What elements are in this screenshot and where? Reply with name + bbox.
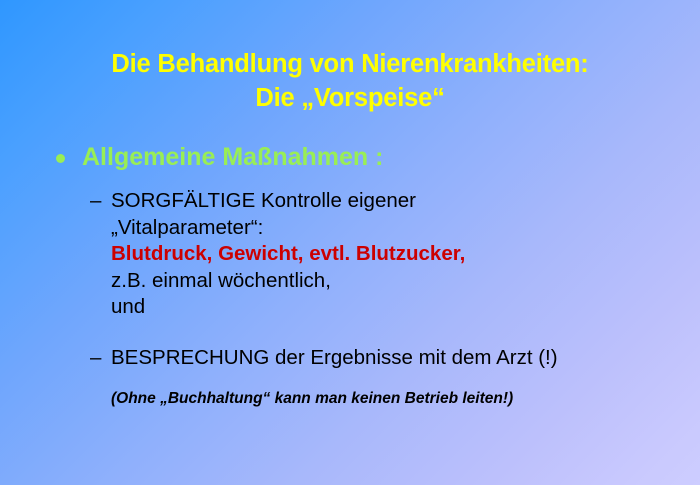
slide-footnote: (Ohne „Buchhaltung“ kann man keinen Betr…	[111, 389, 513, 409]
dash-marker-icon: –	[90, 345, 111, 372]
dash-marker-icon: –	[90, 188, 111, 215]
sub-bullet-line-1: SORGFÄLTIGE Kontrolle eigener	[111, 188, 465, 215]
sub-bullet-line-2: „Vitalparameter“:	[111, 215, 465, 242]
sub-bullet-item-besprechung: – BESPRECHUNG der Ergebnisse mit dem Arz…	[90, 345, 558, 372]
slide-title-line-2: Die „Vorspeise“	[0, 81, 700, 115]
bullet-dot-icon	[56, 154, 65, 163]
sub-bullet-line-3-highlight: Blutdruck, Gewicht, evtl. Blutzucker,	[111, 241, 465, 268]
sub-bullet-line-5: und	[111, 294, 465, 321]
sub-bullet-body: SORGFÄLTIGE Kontrolle eigener „Vitalpara…	[111, 188, 465, 321]
sub-bullet-line-1: BESPRECHUNG der Ergebnisse mit dem Arzt …	[111, 345, 558, 372]
slide-title-line-1: Die Behandlung von Nierenkrankheiten:	[0, 47, 700, 81]
presentation-slide: Die Behandlung von Nierenkrankheiten: Di…	[0, 0, 700, 485]
bullet-item-label: Allgemeine Maßnahmen :	[82, 142, 383, 172]
sub-bullet-line-4: z.B. einmal wöchentlich,	[111, 268, 465, 295]
sub-bullet-item-sorgfaeltige-kontrolle: – SORGFÄLTIGE Kontrolle eigener „Vitalpa…	[90, 188, 465, 321]
sub-bullet-body: BESPRECHUNG der Ergebnisse mit dem Arzt …	[111, 345, 558, 372]
bullet-item-allgemeine-massnahmen: Allgemeine Maßnahmen :	[56, 142, 383, 172]
slide-title: Die Behandlung von Nierenkrankheiten: Di…	[0, 47, 700, 115]
